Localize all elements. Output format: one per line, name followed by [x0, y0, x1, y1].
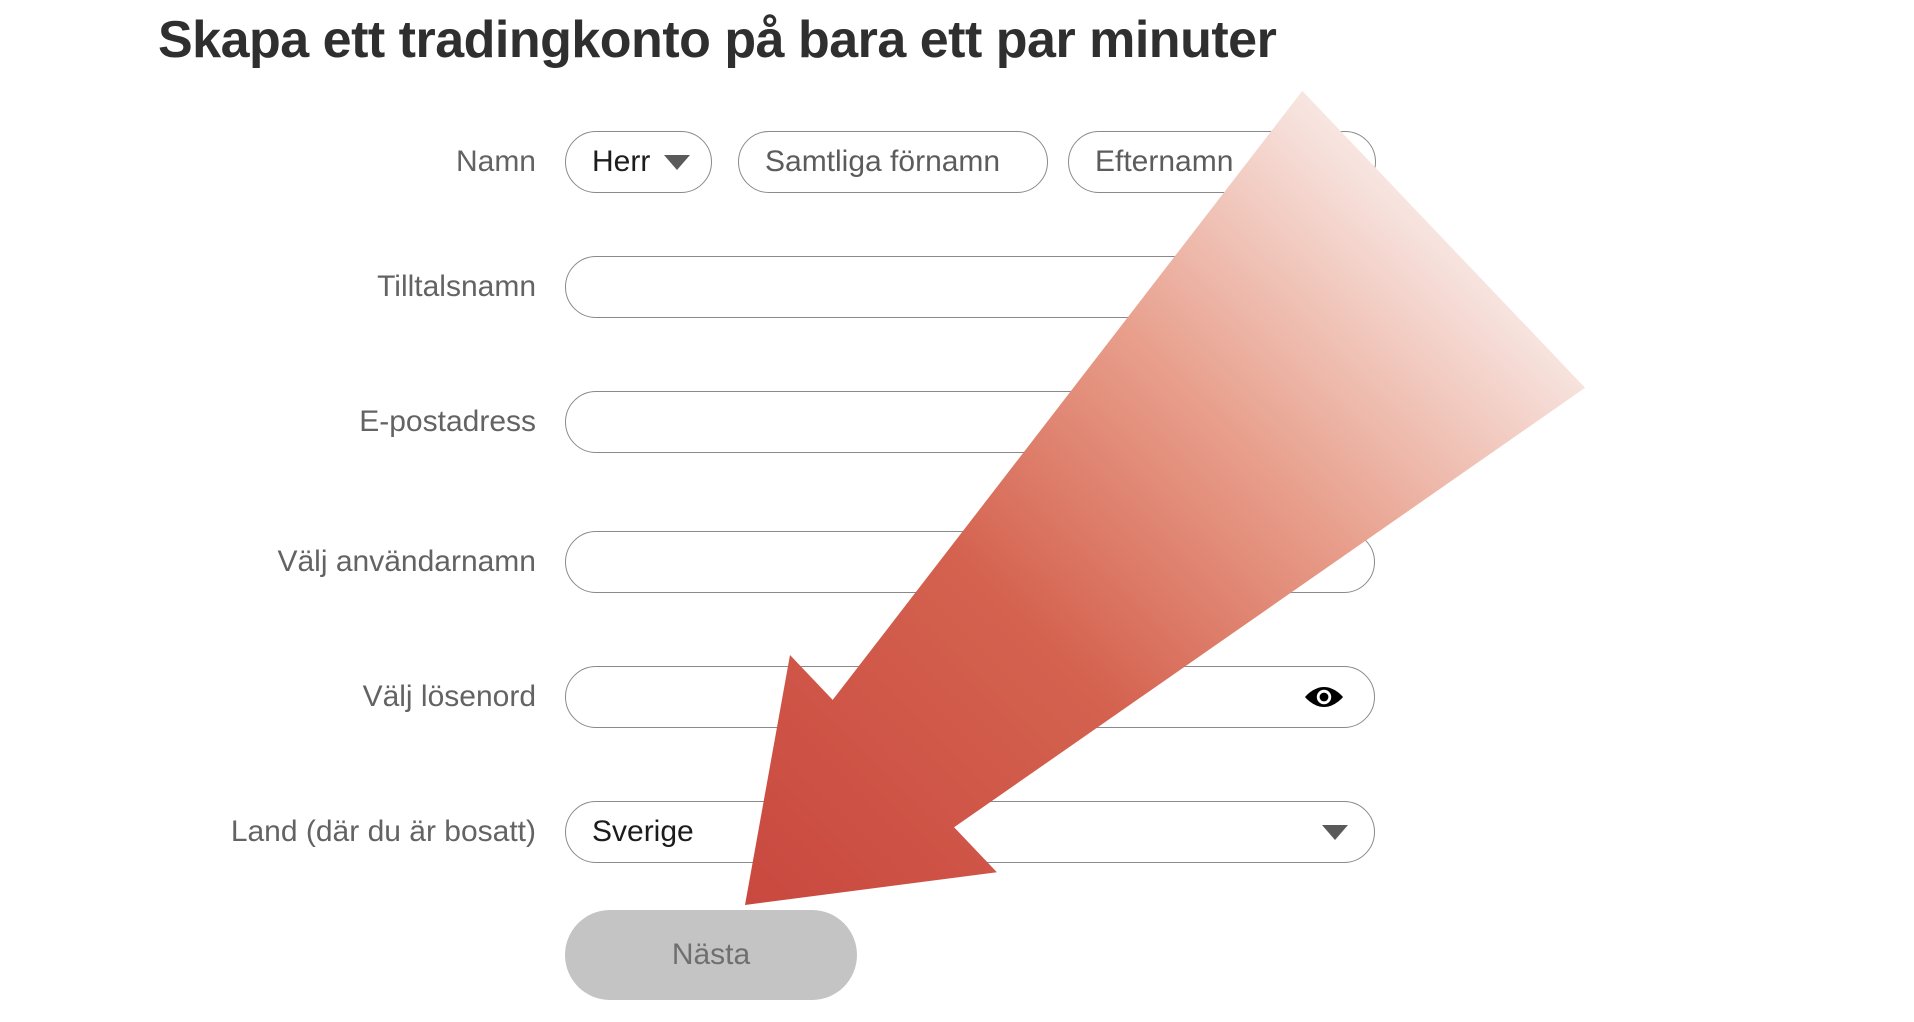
label-namn: Namn	[0, 145, 536, 179]
fields-anvandarnamn	[565, 531, 1375, 593]
first-name-input[interactable]: Samtliga förnamn	[738, 131, 1048, 193]
email-input[interactable]	[565, 391, 1375, 453]
label-tilltalsnamn: Tilltalsnamn	[0, 270, 536, 304]
label-losenord: Välj lösenord	[0, 680, 536, 714]
title-select-value: Herr	[592, 145, 650, 179]
eye-icon[interactable]	[1303, 684, 1345, 710]
country-select[interactable]: Sverige	[565, 801, 1375, 863]
fields-land: Sverige	[565, 801, 1375, 863]
fields-namn: Herr Samtliga förnamn Efternamn	[565, 131, 1376, 193]
form-row-tilltalsnamn: Tilltalsnamn	[0, 256, 1400, 318]
form-row-land: Land (där du är bosatt) Sverige	[0, 801, 1400, 863]
fields-tilltalsnamn	[565, 256, 1375, 318]
form-row-anvandarnamn: Välj användarnamn	[0, 531, 1400, 593]
password-input[interactable]	[565, 666, 1375, 728]
label-land: Land (där du är bosatt)	[0, 815, 536, 849]
title-select[interactable]: Herr	[565, 131, 712, 193]
last-name-placeholder: Efternamn	[1095, 145, 1233, 179]
username-input[interactable]	[565, 531, 1375, 593]
label-epostadress: E-postadress	[0, 405, 536, 439]
next-button[interactable]: Nästa	[565, 910, 857, 1000]
last-name-input[interactable]: Efternamn	[1068, 131, 1376, 193]
label-anvandarnamn: Välj användarnamn	[0, 545, 536, 579]
chevron-down-icon	[1322, 825, 1348, 840]
password-field-wrap	[565, 666, 1375, 728]
signup-form: Namn Herr Samtliga förnamn Efternamn Til…	[0, 0, 1914, 1022]
fields-losenord	[565, 666, 1375, 728]
fields-epostadress	[565, 391, 1375, 453]
country-select-value: Sverige	[592, 815, 694, 849]
preferred-name-input[interactable]	[565, 256, 1375, 318]
form-row-epostadress: E-postadress	[0, 391, 1400, 453]
first-name-placeholder: Samtliga förnamn	[765, 145, 1000, 179]
chevron-down-icon	[664, 155, 690, 170]
form-row-losenord: Välj lösenord	[0, 666, 1400, 728]
form-row-namn: Namn Herr Samtliga förnamn Efternamn	[0, 131, 1400, 193]
